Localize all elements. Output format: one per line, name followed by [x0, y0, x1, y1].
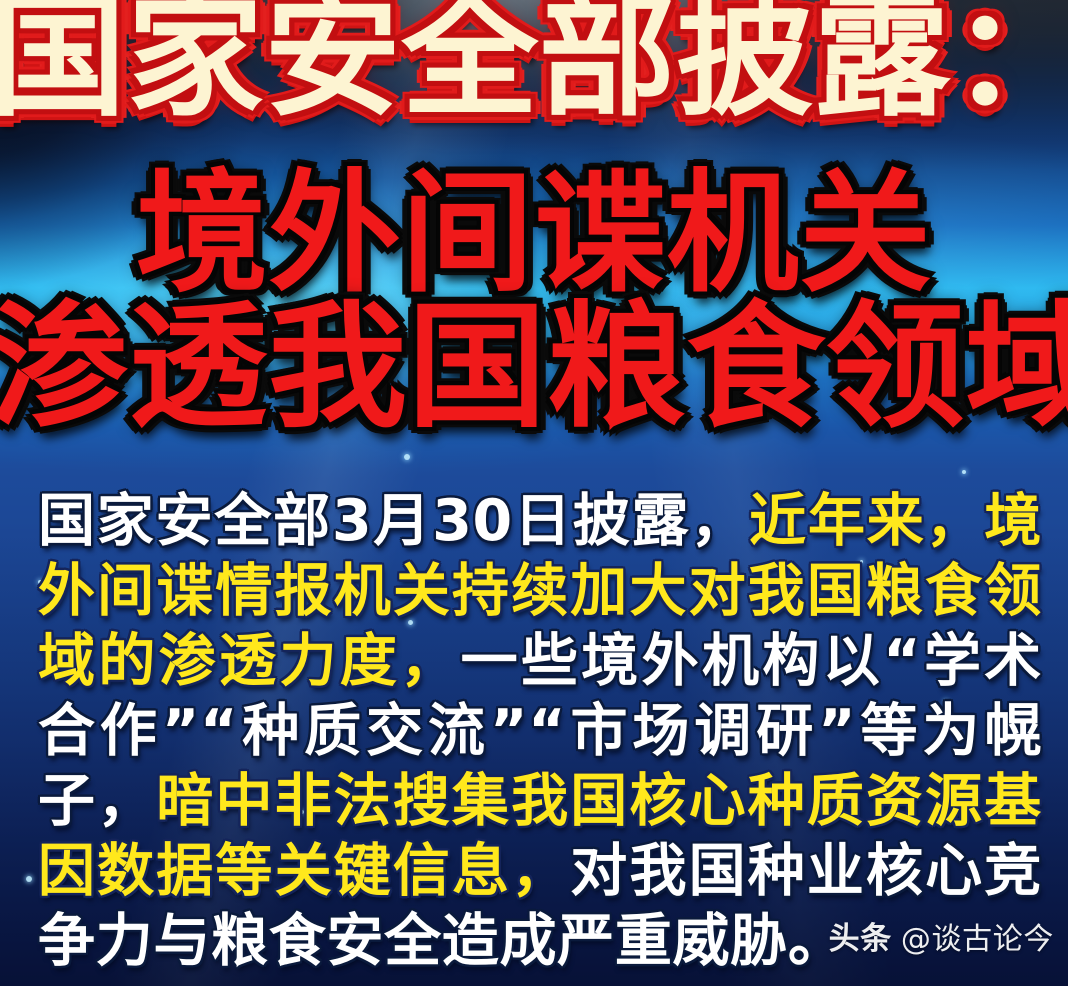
background-particle-dot: [26, 876, 32, 882]
headline-line-3: 渗透我国粮食领域: [0, 300, 1068, 436]
background-particle-dot: [404, 454, 410, 460]
news-poster-image: 国家安全部披露： 境外间谍机关 渗透我国粮食领域 国家安全部3月30日披露，近年…: [0, 0, 1068, 986]
headline-line-1: 国家安全部披露：: [0, 0, 1068, 124]
body-segment: 国家安全部3月30日披露，: [38, 488, 749, 554]
watermark: 头条 @谈古论今: [829, 913, 1054, 958]
watermark-handle: @谈古论今: [901, 914, 1054, 958]
headline-line-2: 境外间谍机关: [0, 168, 1068, 300]
body-paragraph: 国家安全部3月30日披露，近年来，境外间谍情报机关持续加大对我国粮食领域的渗透力…: [38, 486, 1042, 976]
watermark-platform-label: 头条: [829, 913, 892, 958]
background-particle-dot: [962, 470, 966, 474]
